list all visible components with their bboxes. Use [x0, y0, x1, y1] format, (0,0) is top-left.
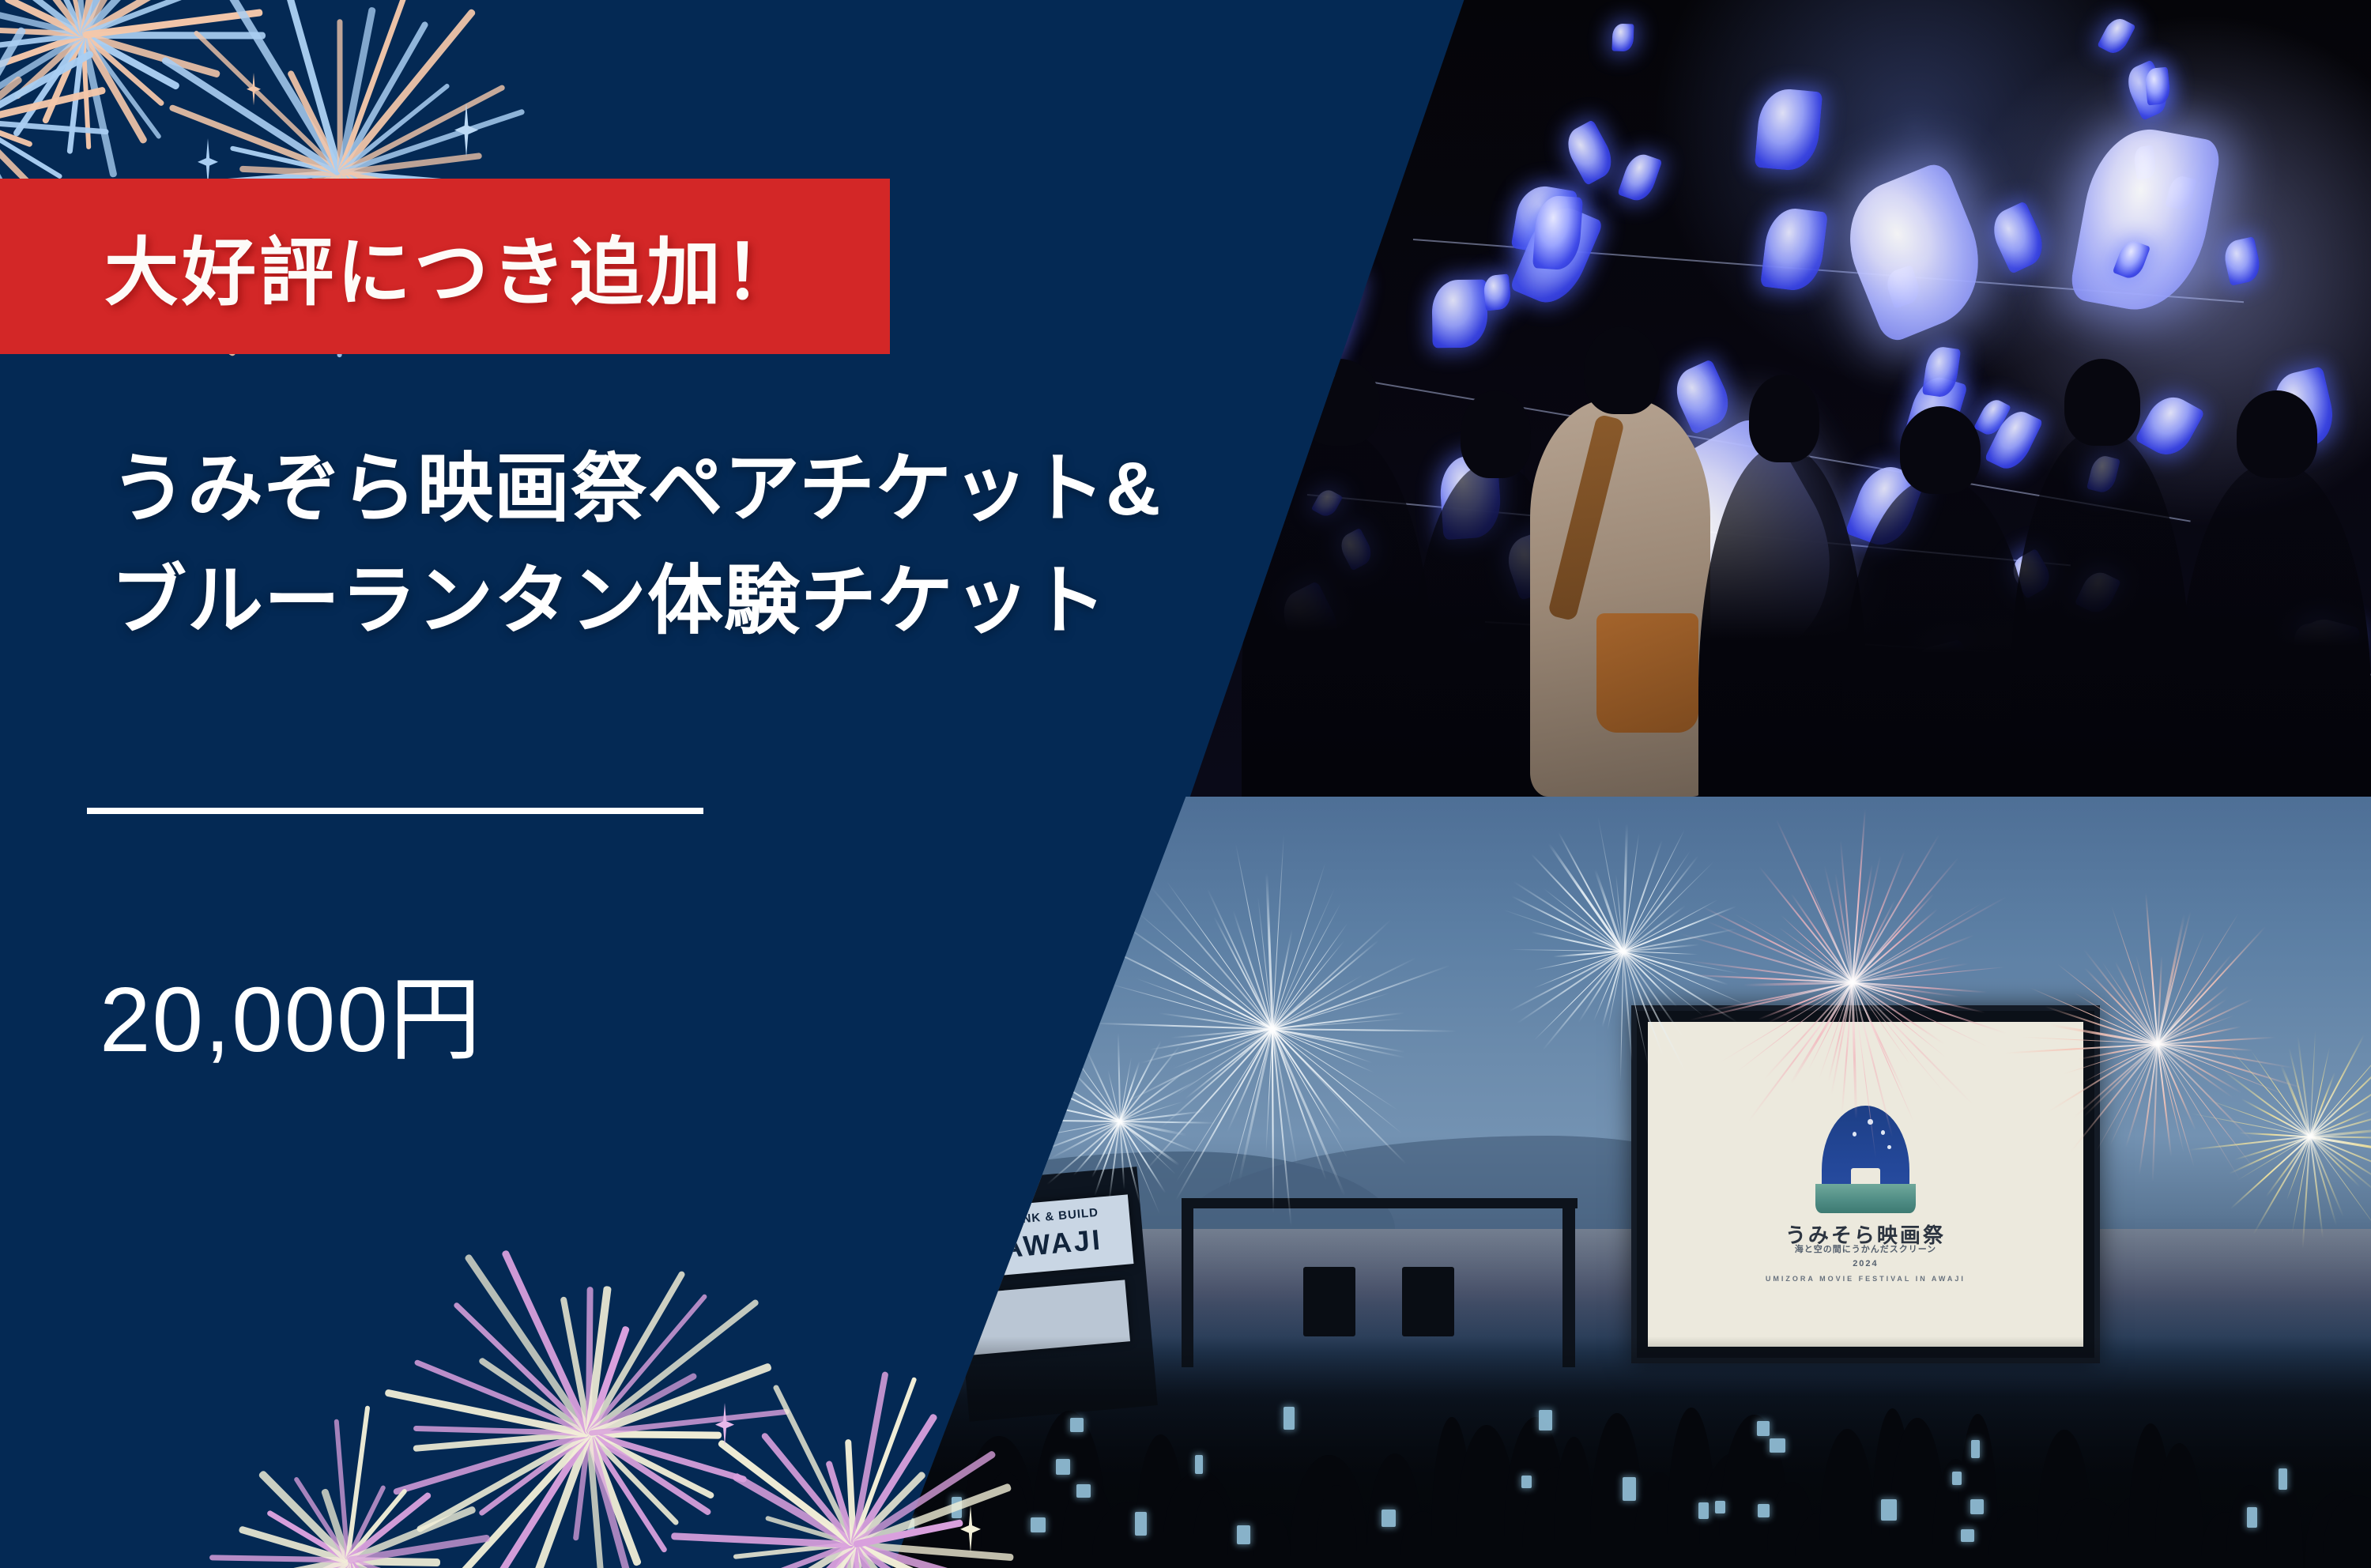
- blue-lantern: [1229, 307, 1290, 390]
- firework-ray: [2030, 987, 2158, 1044]
- blue-lantern: [2068, 120, 2222, 321]
- audience-silhouette: [1456, 1425, 1518, 1568]
- stage-banner-sponsor: [967, 1280, 1130, 1355]
- logo-star-dot: [1853, 1132, 1857, 1136]
- firework-ray: [2302, 1136, 2311, 1248]
- blue-lantern: [1336, 528, 1376, 571]
- firework-ray: [1110, 983, 1272, 1029]
- firework-ray: [2239, 1132, 2310, 1137]
- firework-ray: [1852, 855, 1882, 983]
- price-label: 20,000円: [100, 945, 483, 1078]
- firework-ray: [1045, 1073, 1121, 1121]
- firework-ray: [1827, 982, 1853, 1082]
- firework-ray: [1238, 1029, 1273, 1182]
- blue-lantern: [2165, 174, 2196, 213]
- blue-lantern: [1883, 265, 1922, 309]
- firework-ray: [1175, 1028, 1273, 1096]
- audience-silhouette: [1291, 1455, 1366, 1568]
- firework-ray: [1852, 908, 1938, 982]
- firework-ray: [2125, 1044, 2158, 1148]
- firework-ray: [2157, 1044, 2233, 1099]
- festival-logo-landscape: [1815, 1184, 1916, 1213]
- audience-phone-screen: [2247, 1507, 2257, 1528]
- title-line-1: うみぞら映画祭ペアチケット&: [111, 433, 1161, 545]
- audience-silhouette: [1032, 1411, 1106, 1568]
- firework-ray: [1150, 886, 1273, 1029]
- firework-ray: [1778, 927, 1853, 982]
- audience-silhouette: [2179, 462, 2371, 797]
- firework-ray: [2309, 1072, 2335, 1137]
- firework-ray: [1120, 1045, 1182, 1121]
- firework-ray: [1852, 982, 1944, 1045]
- firework-ray: [1623, 951, 1704, 1016]
- firework-ray: [2157, 956, 2162, 1045]
- logo-star-dot: [1887, 1145, 1891, 1149]
- firework-ray: [2230, 1050, 2311, 1136]
- firework-ray: [1790, 893, 1853, 983]
- audience-silhouette: [1719, 1415, 1789, 1568]
- blue-lantern: [1511, 183, 1578, 258]
- firework-ray: [1623, 824, 1628, 952]
- festival-logo-door: [1851, 1168, 1880, 1210]
- firework-ray: [1120, 1121, 1141, 1204]
- firework-ray: [1819, 982, 1853, 1080]
- firework-ray: [1623, 952, 1664, 1056]
- firework-ray: [1118, 1032, 1121, 1121]
- firework-ray: [1544, 888, 1624, 952]
- firework-ray: [2309, 1136, 2337, 1226]
- firework-ray: [1623, 830, 1685, 952]
- firework-ray: [1120, 1110, 1204, 1122]
- firework-ray: [1834, 873, 1853, 982]
- firework-ray: [1120, 1121, 1160, 1214]
- audience-silhouette: [2155, 1443, 2203, 1568]
- firework-ray: [1272, 1028, 1405, 1053]
- firework-ray: [1272, 1012, 1404, 1029]
- lantern-string: [1307, 494, 2071, 566]
- firework-ray: [2234, 1136, 2310, 1160]
- firework-ray: [2050, 1024, 2158, 1046]
- firework-ray: [1853, 957, 1952, 983]
- firework-ray: [2083, 1043, 2158, 1083]
- firework-ray: [1175, 1028, 1273, 1200]
- blue-lantern: [2113, 237, 2150, 281]
- blue-lantern: [1623, 437, 1659, 477]
- audience-phone-screen: [1195, 1455, 1203, 1474]
- firework-ray: [1272, 957, 1417, 1030]
- audience-silhouette: [1410, 462, 1578, 797]
- firework-ray: [1272, 1028, 1369, 1130]
- festival-logo-title: うみそら映画祭: [1648, 1219, 2083, 1249]
- firework-ray: [2157, 932, 2204, 1044]
- firework-ray: [2310, 1136, 2371, 1155]
- audience-silhouette: [2305, 1491, 2371, 1568]
- firework-ray: [1272, 940, 1380, 1030]
- audience-head: [1584, 326, 1660, 414]
- firework-ray: [1542, 952, 1624, 1051]
- firework-ray: [2288, 1049, 2310, 1137]
- audience-silhouette: [2037, 1430, 2092, 1568]
- firework-ray: [1159, 1012, 1273, 1030]
- blue-lantern: [1973, 396, 2011, 439]
- blue-lantern: [1845, 459, 1926, 553]
- firework-ray: [1823, 866, 1853, 983]
- audience-silhouette: [2201, 1512, 2251, 1568]
- blue-lantern: [2267, 366, 2339, 452]
- firework-ray: [2078, 1043, 2158, 1060]
- firework-ray: [1120, 1101, 1184, 1121]
- firework-ray: [2157, 986, 2228, 1045]
- audience-silhouette: [1136, 1434, 1186, 1568]
- firework-ray: [2046, 1043, 2158, 1113]
- mountain-silhouette: [876, 1151, 1395, 1229]
- logo-star-dot: [1868, 1119, 1873, 1125]
- firework-ray: [1272, 1018, 1402, 1029]
- firework-ray: [2073, 992, 2158, 1044]
- blue-lantern: [1450, 644, 1494, 695]
- audience-silhouette: [2323, 1495, 2371, 1568]
- firework-ray: [1160, 953, 1273, 1029]
- firework-ray: [1852, 903, 1982, 982]
- firework-ray: [1830, 982, 1853, 1095]
- firework-ray: [2157, 999, 2227, 1046]
- firework-ray: [2157, 1043, 2241, 1094]
- firework-ray: [2280, 1065, 2311, 1137]
- firework-ray: [2297, 1037, 2311, 1137]
- blue-lantern: [1985, 200, 2051, 274]
- sparkle-star-icon: [960, 1506, 981, 1553]
- firework-ray: [1853, 982, 1985, 1014]
- firework-ray: [1853, 982, 1988, 993]
- firework-ray: [2145, 893, 2158, 1044]
- firework-ray: [2309, 1136, 2371, 1182]
- firework-ray: [2157, 953, 2233, 1045]
- firework-ray: [1272, 1029, 1275, 1213]
- audience-silhouette: [1634, 1472, 1686, 1568]
- firework-ray: [1086, 1048, 1121, 1121]
- firework-ray: [2230, 1136, 2311, 1210]
- blue-lantern: [2075, 567, 2121, 616]
- firework-ray: [1272, 975, 1363, 1029]
- firework-ray: [1607, 952, 1624, 1031]
- firework-ray: [1707, 982, 1853, 1012]
- firework-ray: [2070, 1044, 2158, 1153]
- audience-silhouette: [2056, 1498, 2125, 1568]
- firework-ray: [2251, 1051, 2310, 1137]
- firework-ray: [1852, 982, 1857, 1118]
- firework-ray: [1553, 951, 1623, 957]
- firework-ray: [1272, 862, 1326, 1029]
- blue-lantern: [1284, 262, 1363, 354]
- audience-phone-screen: [1539, 1410, 1551, 1431]
- promo-badge-label: 大好評につき追加！: [104, 213, 801, 320]
- firework-ray: [1272, 1029, 1327, 1181]
- firework-ray: [1706, 921, 1853, 983]
- lantern-string: [1413, 239, 2244, 303]
- firework-ray: [1623, 850, 1691, 952]
- blue-lantern: [1291, 312, 1340, 375]
- firework-ray: [1535, 951, 1624, 971]
- firework-ray: [2189, 1136, 2310, 1151]
- blue-lantern: [1830, 160, 2000, 345]
- blue-lantern: [1226, 58, 1272, 130]
- audience-silhouette: [1842, 478, 2034, 797]
- audience-silhouette: [2107, 1496, 2166, 1568]
- firework-ray: [1853, 982, 2007, 1034]
- blue-lantern: [2292, 621, 2328, 664]
- firework-ray: [2237, 1136, 2310, 1182]
- firework-ray: [1272, 1029, 1346, 1197]
- audience-phone-screen: [1715, 1501, 1725, 1513]
- audience-phone-screen: [2279, 1468, 2286, 1491]
- firework-ray: [1615, 874, 1623, 951]
- sparkle-star-icon: [247, 73, 261, 105]
- firework-ray: [1623, 951, 1698, 955]
- blue-lantern: [1902, 371, 1967, 455]
- firework-ray: [2101, 962, 2158, 1044]
- firework-ray: [1172, 1028, 1273, 1069]
- firework-ray: [1072, 1070, 1121, 1121]
- firework-ray: [2158, 1043, 2304, 1089]
- firework-ray: [1036, 1121, 1121, 1153]
- firework-ray: [1578, 952, 1624, 1023]
- blue-lantern: [2097, 14, 2135, 57]
- firework-ray: [1272, 1028, 1398, 1110]
- firework-ray: [1775, 820, 1853, 982]
- audience-phone-screen: [1758, 1504, 1770, 1518]
- firework-ray: [2265, 1136, 2311, 1197]
- audience-phone-screen: [1237, 1525, 1250, 1544]
- firework-ray: [1852, 982, 1876, 1159]
- firework-ray: [1734, 914, 1853, 983]
- firework-ray: [1852, 857, 1959, 983]
- audience-silhouette: [1819, 1429, 1875, 1568]
- firework-ray: [1120, 1065, 1193, 1122]
- firework-ray: [1840, 840, 1853, 982]
- firework-ray: [1853, 963, 1970, 983]
- audience-silhouette: [1092, 1502, 1167, 1568]
- firework-ray: [2084, 968, 2158, 1045]
- stage-banner-awaji: THINK & BUILD AWAJI: [970, 1195, 1134, 1278]
- firework-ray: [1853, 982, 1961, 998]
- audience-silhouette: [2128, 1423, 2173, 1568]
- firework-ray: [1852, 835, 1940, 983]
- firework-ray: [2157, 1044, 2194, 1167]
- firework-ray: [1623, 929, 1737, 953]
- audience-phone-screen: [1757, 1421, 1770, 1435]
- firework-ray: [1623, 899, 1718, 952]
- firework-ray: [2096, 1044, 2158, 1151]
- firework-ray: [2309, 1046, 2371, 1137]
- audience-silhouette: [2266, 1482, 2303, 1568]
- audience-silhouette: [1367, 1453, 1423, 1568]
- audience-head: [1299, 359, 1380, 447]
- festival-logo-year: 2024: [1648, 1259, 2083, 1268]
- audience-silhouette: [1163, 1470, 1238, 1568]
- firework-ray: [2309, 1136, 2371, 1197]
- firework-ray: [2157, 926, 2266, 1045]
- firework-ray: [1781, 915, 1853, 982]
- audience-silhouette: [1698, 446, 1867, 797]
- firework-ray: [2139, 1044, 2158, 1175]
- blue-lantern-experience-photo: [1170, 0, 2371, 797]
- firework-ray: [1272, 1028, 1402, 1134]
- firework-ray: [2158, 1043, 2253, 1051]
- firework-ray: [1185, 1028, 1273, 1099]
- firework-ray: [1513, 880, 1624, 952]
- firework-ray: [1594, 869, 1624, 952]
- firework-ray: [1623, 861, 1715, 952]
- firework-ray: [1119, 1061, 1140, 1121]
- firework-ray: [1758, 866, 1853, 983]
- audience-phone-screen: [1970, 1499, 1984, 1514]
- firework-ray: [1852, 896, 2007, 983]
- blue-lantern: [2133, 145, 2158, 180]
- firework-ray: [1272, 1028, 1374, 1073]
- firework-ray: [1051, 1121, 1121, 1159]
- blue-lantern: [1558, 495, 1634, 583]
- firework-ray: [2222, 1070, 2310, 1137]
- firework-ray: [1272, 919, 1392, 1030]
- firework-ray: [1266, 873, 1274, 1029]
- firework-ray: [1136, 978, 1273, 1029]
- firework-ray: [2045, 1006, 2158, 1045]
- festival-logo-tagline: 海と空の間にうかんだスクリーン: [1648, 1242, 2083, 1255]
- firework-ray: [1852, 982, 1893, 1137]
- firework-ray: [2157, 914, 2185, 1044]
- firework-ray: [1768, 982, 1853, 1023]
- firework-ray: [1679, 933, 1853, 984]
- blue-lantern: [1274, 580, 1348, 661]
- title-line-2: ブルーランタン体験チケット: [111, 545, 1161, 658]
- firework-ray: [1687, 974, 1853, 984]
- audience-silhouette: [1504, 1417, 1567, 1568]
- firework-ray: [1022, 1119, 1120, 1122]
- firework-ray: [1176, 1028, 1273, 1182]
- audience-silhouette: [2226, 1485, 2275, 1568]
- firework-ray: [1534, 951, 1624, 1041]
- audience-silhouette: [1061, 1479, 1114, 1568]
- firework-ray: [1790, 982, 1853, 1084]
- stage-truss: [1182, 1198, 1193, 1368]
- firework-ray: [1509, 951, 1624, 1012]
- stage-banner-line2: AWAJI: [972, 1221, 1133, 1268]
- firework-ray: [1623, 944, 1700, 952]
- firework-ray: [1144, 1028, 1273, 1171]
- audience-silhouette: [1253, 1513, 1291, 1568]
- audience-phone-screen: [1952, 1472, 1962, 1485]
- audience-silhouette: [1988, 1506, 2055, 1568]
- firework-ray: [2005, 1043, 2158, 1053]
- firework-ray: [1689, 982, 1853, 1021]
- firework-ray: [1272, 929, 1293, 1029]
- sea-reflection-glow: [846, 1229, 2371, 1352]
- firework-ray: [2157, 914, 2238, 1044]
- firework-ray: [1120, 1121, 1180, 1166]
- firework-ray: [1108, 1070, 1121, 1121]
- blue-lantern: [1549, 642, 1604, 719]
- blue-lantern: [1615, 586, 1692, 678]
- audience-phone-screen: [1770, 1438, 1785, 1453]
- page-title: うみぞら映画祭ペアチケット& ブルーランタン体験チケット: [111, 433, 1161, 658]
- firework-ray: [1852, 982, 1904, 1091]
- projection-screen-surface: うみそら映画祭 海と空の間にうかんだスクリーン 2024 UMIZORA MOV…: [1648, 1022, 2083, 1347]
- audience-silhouette: [1932, 1459, 1979, 1568]
- audience-silhouette: [1554, 1437, 1594, 1568]
- firework-ray: [1120, 1121, 1216, 1124]
- logo-star-dot: [1881, 1130, 1886, 1135]
- firework-ray: [1601, 952, 1624, 1027]
- firework-ray: [2252, 1136, 2311, 1235]
- firework-ray: [1137, 911, 1273, 1028]
- firework-ray: [1026, 1100, 1120, 1122]
- firework-ray: [2309, 1042, 2371, 1137]
- firework-ray: [1852, 935, 1973, 983]
- audience-phone-screen: [1881, 1499, 1897, 1521]
- firework-ray: [2083, 1044, 2158, 1118]
- firework-ray: [1233, 910, 1274, 1029]
- firework-ray: [1035, 1081, 1120, 1121]
- stage-speaker: [1402, 1267, 1454, 1336]
- audience-silhouette: [1590, 1413, 1645, 1568]
- firework-ray: [1623, 840, 1663, 952]
- firework-ray: [2157, 1044, 2240, 1181]
- blue-lantern: [1985, 663, 2037, 719]
- firework-ray: [1214, 916, 1274, 1029]
- firework-ray: [1623, 951, 1728, 986]
- firework-ray: [2309, 1136, 2371, 1174]
- firework-ray: [1852, 865, 1872, 983]
- title-divider: [87, 808, 703, 814]
- firework-ray: [1109, 1121, 1121, 1202]
- audience-silhouette: [1667, 1408, 1716, 1568]
- audience-phone-screen: [1623, 1477, 1636, 1501]
- audience-phone-screen: [1382, 1510, 1396, 1527]
- promo-badge: 大好評につき追加！: [0, 179, 890, 354]
- audience-phone-screen: [1135, 1512, 1147, 1536]
- firework-ray: [1119, 1121, 1166, 1193]
- firework-ray: [1758, 982, 1853, 1020]
- blue-lantern: [1760, 205, 1828, 293]
- firework-ray: [2157, 1044, 2184, 1152]
- firework-ray: [1852, 982, 1988, 1048]
- firework-ray: [2109, 1044, 2158, 1146]
- audience-head: [1461, 390, 1531, 478]
- audience-silhouette: [1795, 1513, 1845, 1568]
- firework-ray: [1160, 1028, 1272, 1129]
- firework-ray: [1047, 1121, 1121, 1185]
- audience-head: [1900, 406, 1981, 494]
- firework-ray: [2064, 1043, 2158, 1074]
- firework-ray: [1094, 1121, 1121, 1197]
- shoulder-bag-strap: [1547, 414, 1626, 622]
- firework-ray: [1228, 1028, 1273, 1187]
- firework-ray: [2205, 1099, 2310, 1136]
- firework-ray: [2309, 1136, 2361, 1188]
- firework-ray: [1510, 949, 1623, 952]
- blue-lantern: [1755, 87, 1823, 172]
- firework-ray: [2158, 1043, 2284, 1095]
- firework-ray: [1623, 906, 1736, 952]
- firework-ray: [1207, 888, 1273, 1029]
- stage-truss: [1182, 1198, 1578, 1209]
- audience-silhouette: [2011, 430, 2191, 797]
- firework-ray: [2310, 1128, 2371, 1138]
- firework-ray: [1852, 982, 1943, 1092]
- blue-lantern: [2121, 59, 2173, 121]
- firework-ray: [2309, 1136, 2324, 1238]
- firework-ray: [1620, 952, 1624, 1082]
